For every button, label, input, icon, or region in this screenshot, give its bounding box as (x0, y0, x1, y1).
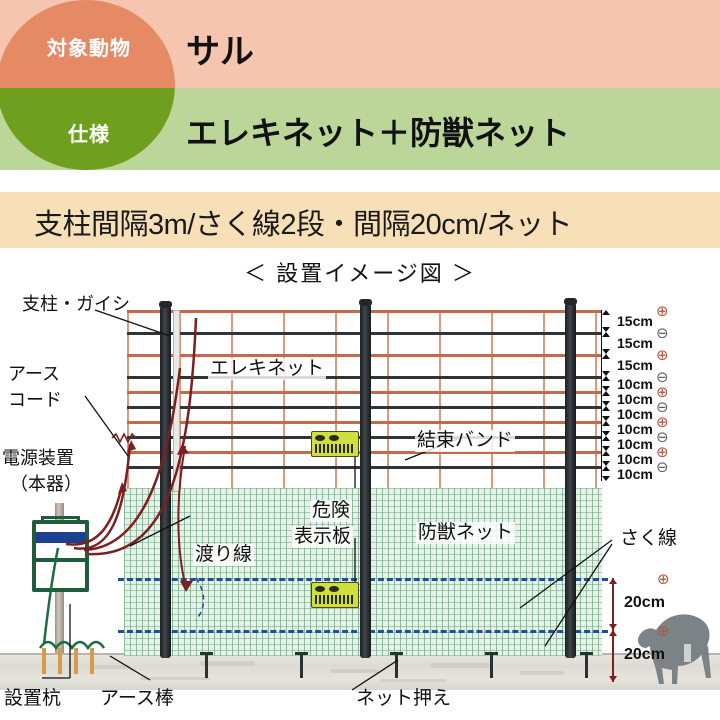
spacing-value: 10cm (617, 376, 653, 392)
danger-placard-upper (311, 431, 359, 457)
spacing-value: 10cm (617, 406, 653, 422)
label-post-insulator: 支柱・ガイシ (22, 294, 130, 315)
label-net-holder: ネット押え (356, 688, 451, 710)
earth-rod (42, 648, 46, 674)
fence-polarity-plus-icon: ⊕ (657, 622, 670, 640)
spacing-value: 10cm (617, 421, 653, 437)
net-holder-pin (395, 652, 398, 678)
spacing-value: 20cm (624, 594, 665, 612)
animal-label: 対象動物 (0, 32, 178, 61)
net-holder-pin (300, 652, 303, 678)
net-holder-pin (585, 652, 588, 678)
animal-value: サル (186, 24, 254, 73)
polarity-plus-icon: ⊕ (656, 302, 669, 320)
support-post-2 (360, 304, 371, 658)
spacing-value: 10cm (617, 391, 653, 407)
label-crossing-wire: 渡り線 (193, 544, 254, 566)
label-eleki-net: エレキネット (208, 358, 326, 380)
polarity-minus-icon: ⊖ (656, 324, 669, 342)
fence-spec-infographic: 対象動物 仕様 サル エレキネット＋防獣ネット 支柱間隔3m/さく線2段・間隔2… (0, 0, 720, 720)
power-unit-divider (32, 558, 89, 562)
spacing-value: 15cm (617, 335, 653, 351)
polarity-plus-icon: ⊕ (656, 346, 669, 364)
net-holder-pin (205, 652, 208, 678)
fence-polarity-plus-icon: ⊕ (657, 570, 670, 588)
label-beast-net: 防獣ネット (416, 522, 515, 544)
support-post-1 (160, 306, 171, 658)
spacing-value: 10cm (617, 436, 653, 452)
installation-diagram: ＜ 設置イメージ図 ＞ (0, 248, 720, 720)
label-power-unit-line1: 電源装置 (2, 448, 74, 469)
spec-note-text: 支柱間隔3m/さく線2段・間隔20cm/ネット (34, 201, 572, 243)
spacing-value: 10cm (617, 466, 653, 482)
danger-placard-lower (311, 582, 359, 608)
label-power-unit-line2: （本器） (10, 474, 82, 495)
diagram-title: ＜ 設置イメージ図 ＞ (0, 256, 720, 288)
spacing-value: 15cm (617, 313, 653, 329)
net-holder-pin (490, 652, 493, 678)
label-earth-cord-line2: コード (8, 390, 62, 411)
label-earth-cord-line1: アース (8, 364, 60, 385)
polarity-minus-icon: ⊖ (656, 458, 669, 476)
power-unit-panel (36, 532, 85, 543)
support-post-3 (565, 303, 576, 658)
spec-value: エレキネット＋防獣ネット (186, 108, 570, 154)
spacing-value: 10cm (617, 451, 653, 467)
spec-note-band: 支柱間隔3m/さく線2段・間隔20cm/ネット (0, 192, 720, 248)
earth-rod (74, 648, 78, 674)
label-fence-wire: さく線 (620, 528, 677, 550)
label-danger-sign-line2: 表示板 (292, 526, 353, 548)
label-ground-stake: 設置杭 (4, 688, 61, 710)
spec-label: 仕様 (0, 118, 178, 147)
insulator-strip (173, 310, 180, 492)
earth-rod (90, 648, 94, 674)
earth-rod (58, 648, 62, 674)
spacing-value: 15cm (617, 357, 653, 373)
power-unit-box (32, 520, 89, 592)
label-binding-band: 結束バンド (415, 430, 515, 452)
label-earth-rod: アース棒 (100, 688, 174, 710)
label-danger-sign-line1: 危険 (310, 500, 352, 522)
spacing-value: 20cm (624, 646, 665, 664)
